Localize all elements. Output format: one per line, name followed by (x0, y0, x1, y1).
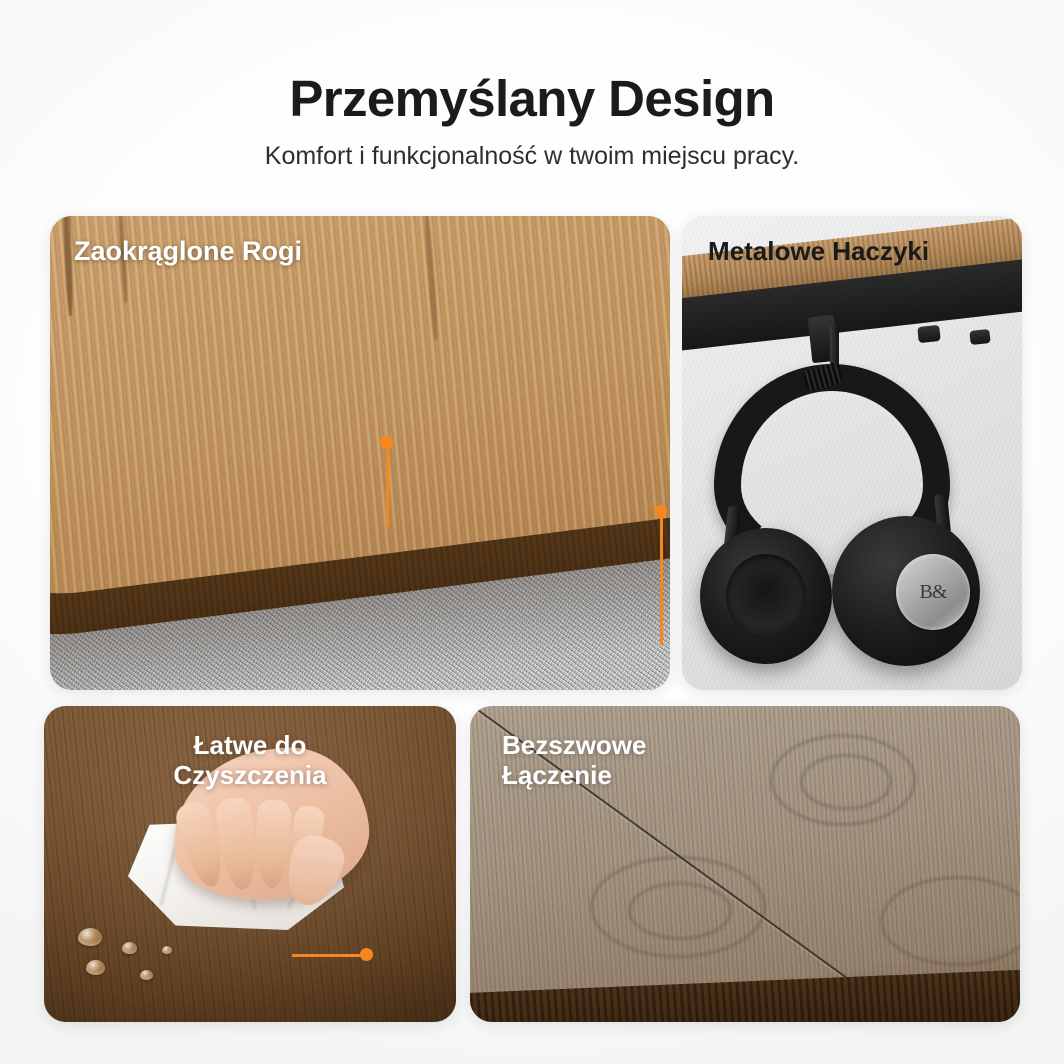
feature-label-seamless-joint: Bezszwowe Łączenie (502, 730, 647, 790)
feature-label-easy-clean: Łatwe do Czyszczenia (44, 730, 456, 790)
feature-label-metal-hooks: Metalowe Haczyki (708, 236, 929, 266)
feature-image-metal-hooks: B& (682, 216, 1022, 690)
hook-bracket-tertiary (969, 329, 990, 345)
feature-card-rounded-corners[interactable]: Zaokrąglone Rogi (50, 216, 670, 690)
water-droplet-4 (140, 970, 153, 980)
water-droplet-3 (122, 942, 137, 954)
feature-label-rounded-corners: Zaokrąglone Rogi (74, 236, 302, 267)
feature-card-metal-hooks[interactable]: B& Metalowe Haczyki (682, 216, 1022, 690)
water-droplet-5 (162, 946, 172, 954)
page-title: Przemyślany Design (0, 70, 1064, 127)
page-subtitle: Komfort i funkcjonalność w twoim miejscu… (0, 141, 1064, 171)
headphones-brand-disc: B& (896, 554, 970, 630)
feature-card-easy-clean[interactable]: Łatwe do Czyszczenia (44, 706, 456, 1022)
page-header: Przemyślany Design Komfort i funkcjonaln… (0, 70, 1064, 171)
feature-card-seamless-joint[interactable]: Bezszwowe Łączenie (470, 706, 1020, 1022)
headphones-earcup-left (700, 528, 832, 664)
water-droplet-2 (86, 960, 105, 975)
hook-bracket-secondary (917, 325, 941, 343)
feature-image-rounded-corners (50, 216, 670, 690)
headphones-brand-logo: B& (920, 581, 947, 604)
infographic-page: Przemyślany Design Komfort i funkcjonaln… (0, 0, 1064, 1064)
water-droplet-1 (78, 928, 102, 946)
